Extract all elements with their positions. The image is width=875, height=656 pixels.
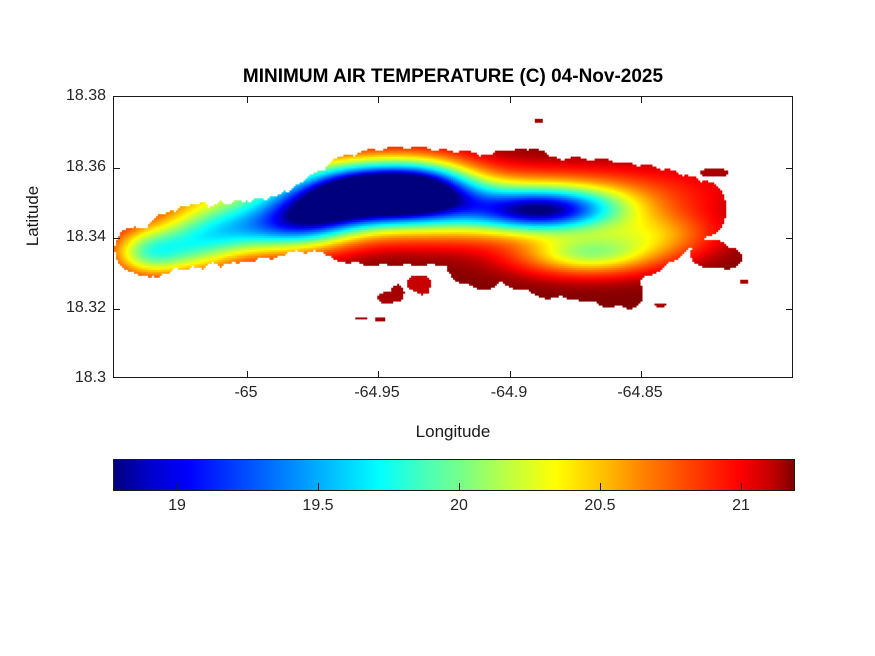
xtick-label: -65 bbox=[234, 384, 257, 402]
ytick-label: 18.34 bbox=[66, 228, 106, 246]
ytick-mark bbox=[114, 168, 120, 169]
xtick-mark bbox=[378, 97, 379, 103]
xtick-mark bbox=[641, 97, 642, 103]
colorbar-tick bbox=[600, 483, 601, 490]
ytick-label: 18.38 bbox=[66, 87, 106, 105]
ytick-mark bbox=[786, 168, 792, 169]
x-axis-label: Longitude bbox=[113, 422, 793, 442]
temperature-heatmap bbox=[114, 97, 792, 377]
ytick-label: 18.32 bbox=[66, 299, 106, 317]
xtick-label: -64.9 bbox=[491, 384, 527, 402]
colorbar-tick-label: 19.5 bbox=[302, 497, 333, 515]
xtick-mark bbox=[641, 371, 642, 377]
ytick-mark bbox=[114, 238, 120, 239]
figure-canvas: MINIMUM AIR TEMPERATURE (C) 04-Nov-2025 … bbox=[0, 0, 875, 656]
map-axes[interactable] bbox=[113, 96, 793, 378]
colorbar-tick bbox=[459, 483, 460, 490]
colorbar-tick-label: 20.5 bbox=[584, 497, 615, 515]
ytick-label: 18.36 bbox=[66, 158, 106, 176]
ytick-mark bbox=[114, 309, 120, 310]
xtick-mark bbox=[378, 371, 379, 377]
ytick-mark bbox=[786, 238, 792, 239]
ytick-label: 18.3 bbox=[75, 369, 106, 387]
colorbar-tick-label: 20 bbox=[450, 497, 468, 515]
colorbar-tick bbox=[741, 483, 742, 490]
ytick-label-group: 18.38 18.36 18.34 18.32 18.3 bbox=[30, 0, 106, 656]
xtick-mark bbox=[247, 97, 248, 103]
colorbar-tick bbox=[318, 483, 319, 490]
ytick-mark bbox=[786, 309, 792, 310]
colorbar[interactable] bbox=[113, 459, 795, 491]
xtick-label: -64.85 bbox=[617, 384, 662, 402]
xtick-mark bbox=[510, 97, 511, 103]
colorbar-tick-label: 21 bbox=[732, 497, 750, 515]
xtick-mark bbox=[247, 371, 248, 377]
page-title: MINIMUM AIR TEMPERATURE (C) 04-Nov-2025 bbox=[113, 66, 793, 88]
xtick-label: -64.95 bbox=[354, 384, 399, 402]
y-axis-label: Latitude bbox=[23, 161, 43, 271]
colorbar-tick-label: 19 bbox=[168, 497, 186, 515]
colorbar-tick bbox=[177, 483, 178, 490]
xtick-mark bbox=[510, 371, 511, 377]
